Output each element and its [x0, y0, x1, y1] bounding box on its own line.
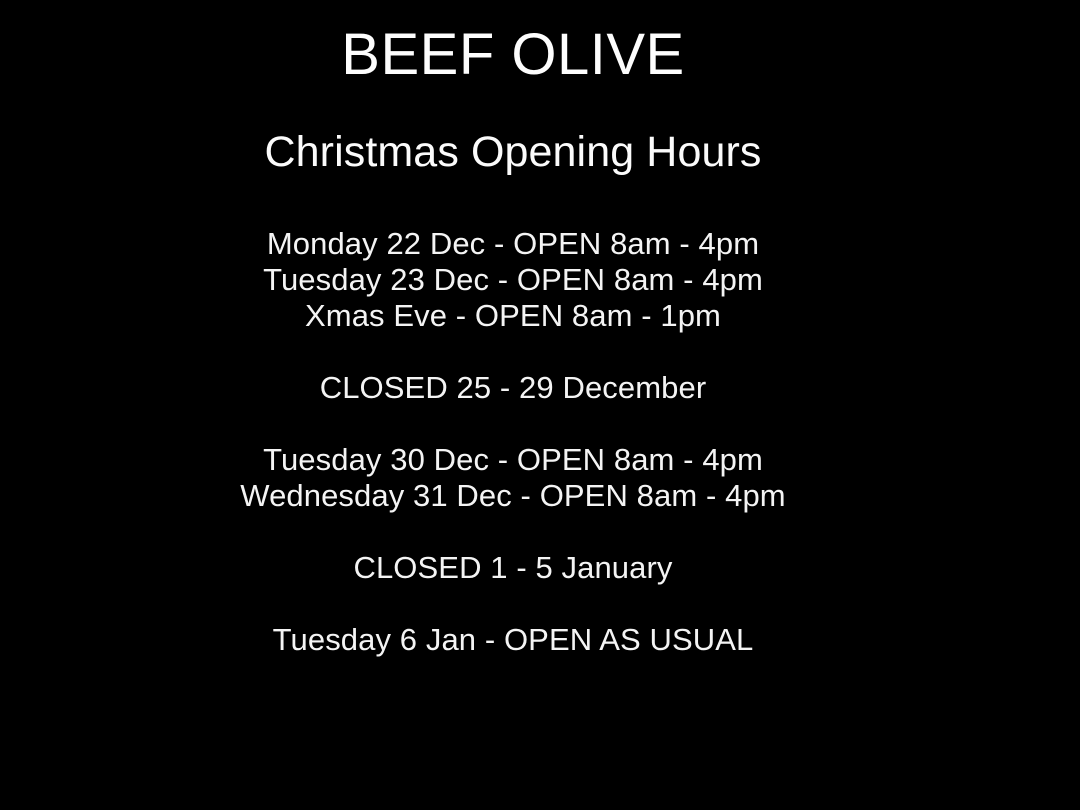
hours-line: Wednesday 31 Dec - OPEN 8am - 4pm — [0, 478, 1026, 514]
poster-subtitle: Christmas Opening Hours — [0, 131, 1026, 174]
poster-content: BEEF OLIVE Christmas Opening Hours Monda… — [0, 0, 1026, 658]
line-spacer — [0, 514, 1026, 550]
hours-line: CLOSED 1 - 5 January — [0, 550, 1026, 586]
hours-line: Tuesday 6 Jan - OPEN AS USUAL — [0, 622, 1026, 658]
opening-hours-poster: BEEF OLIVE Christmas Opening Hours Monda… — [0, 0, 1080, 810]
line-spacer — [0, 406, 1026, 442]
hours-line: Tuesday 30 Dec - OPEN 8am - 4pm — [0, 442, 1026, 478]
hours-line: Tuesday 23 Dec - OPEN 8am - 4pm — [0, 262, 1026, 298]
business-name-title: BEEF OLIVE — [0, 26, 1026, 84]
hours-line: CLOSED 25 - 29 December — [0, 370, 1026, 406]
opening-hours-list: Monday 22 Dec - OPEN 8am - 4pmTuesday 23… — [0, 226, 1026, 658]
line-spacer — [0, 334, 1026, 370]
hours-line: Monday 22 Dec - OPEN 8am - 4pm — [0, 226, 1026, 262]
hours-line: Xmas Eve - OPEN 8am - 1pm — [0, 298, 1026, 334]
line-spacer — [0, 586, 1026, 622]
